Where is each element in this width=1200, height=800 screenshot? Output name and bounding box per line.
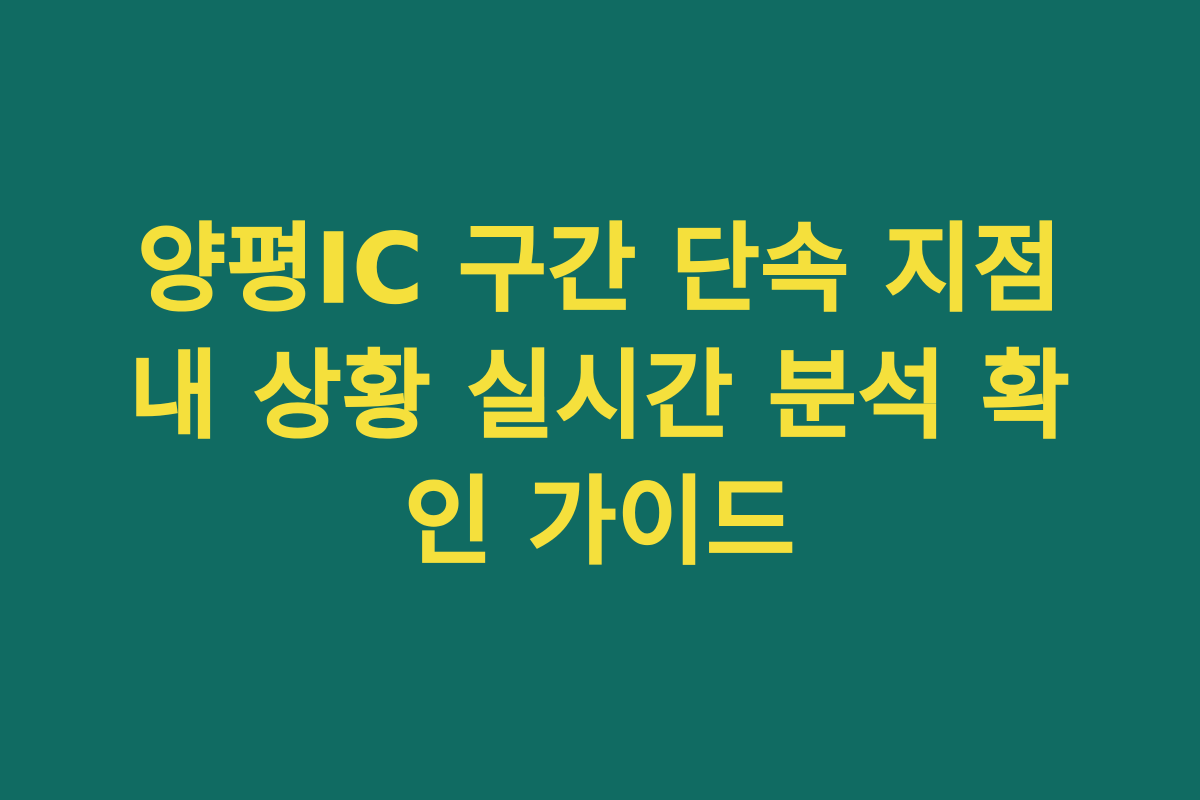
title-line-2: 내 상황 실시간 분석 확 — [100, 333, 1100, 460]
title-line-1: 양평IC 구간 단속 지점 — [100, 206, 1100, 333]
title-line-3: 인 가이드 — [100, 459, 1100, 586]
title-card: 양평IC 구간 단속 지점 내 상황 실시간 분석 확 인 가이드 — [0, 0, 1200, 800]
page-title: 양평IC 구간 단속 지점 내 상황 실시간 분석 확 인 가이드 — [100, 206, 1100, 586]
